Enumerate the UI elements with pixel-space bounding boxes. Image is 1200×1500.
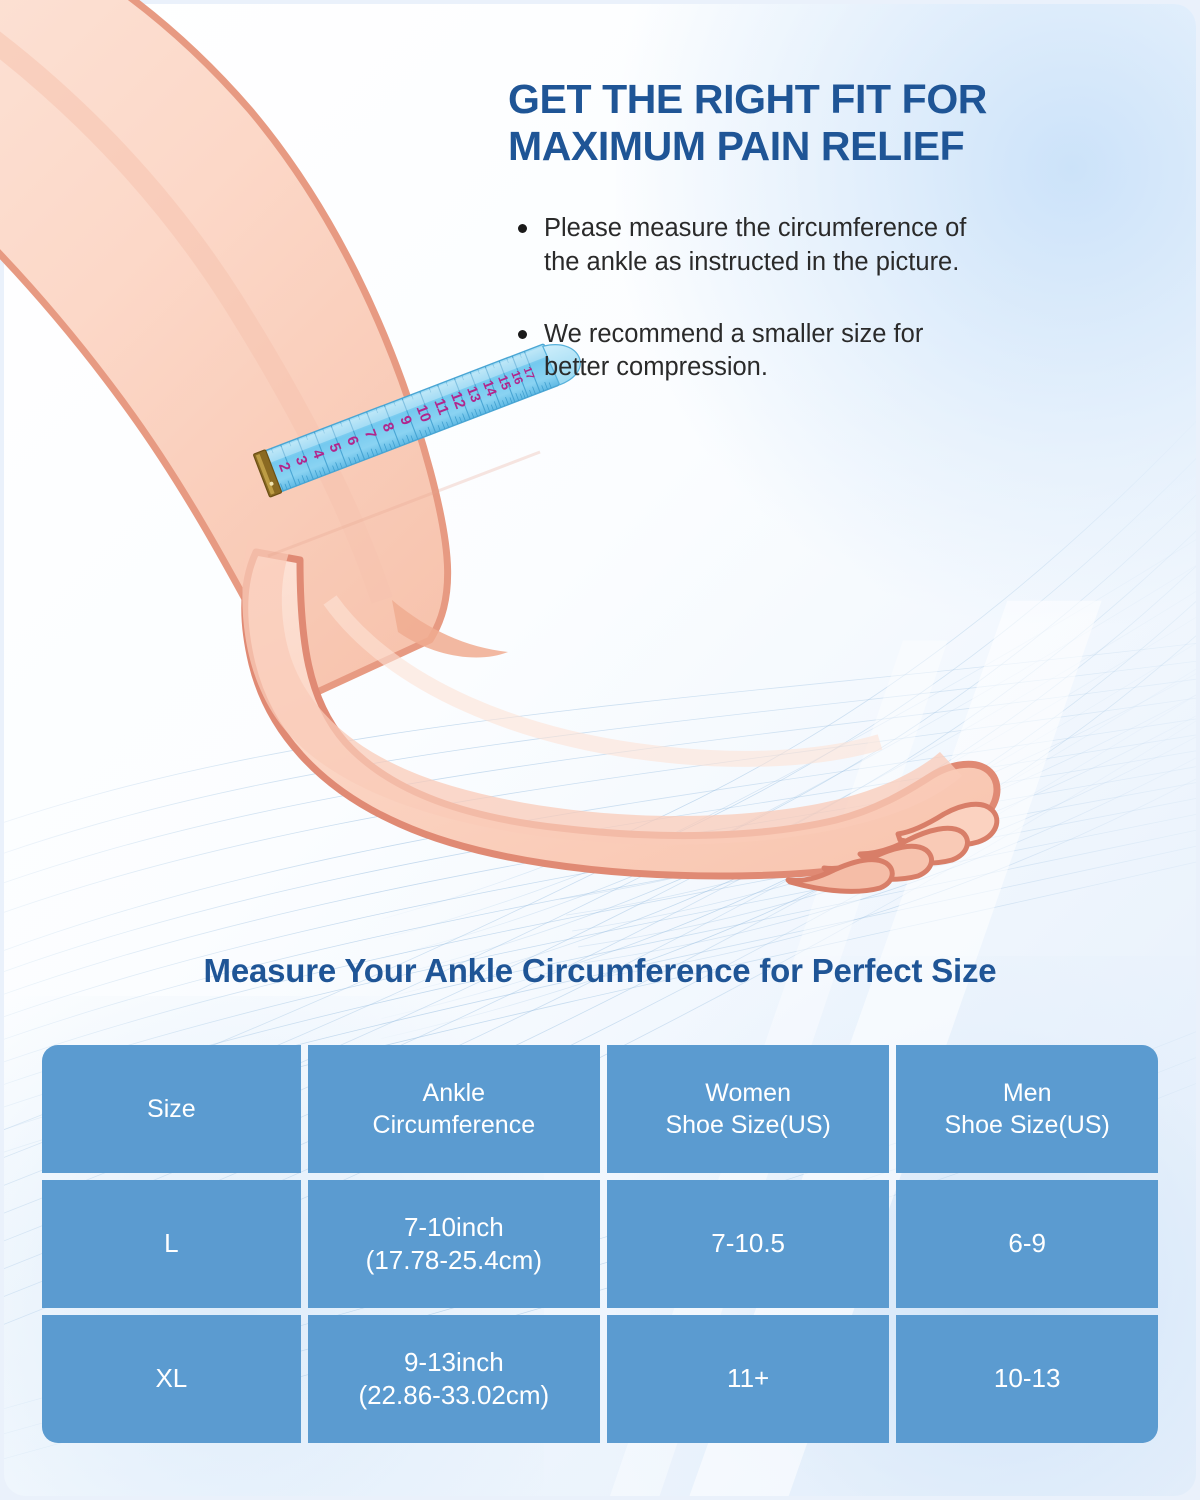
infographic-page: 2 3 4 5 6 7 8 9 10 11 12 13 14 15	[0, 0, 1200, 1500]
instruction-line-2: better compression.	[544, 351, 1156, 385]
table-cell-women: 11+	[607, 1315, 889, 1443]
bullet-dot-icon	[518, 330, 527, 339]
table-header-circumference-line-2: Circumference	[373, 1109, 536, 1141]
table-header-women-line-2: Shoe Size(US)	[665, 1109, 830, 1141]
headline-block: GET THE RIGHT FIT FOR MAXIMUM PAIN RELIE…	[508, 76, 1156, 385]
table-cell-men: 10-13	[896, 1315, 1158, 1443]
table-cell-men: 6-9	[896, 1180, 1158, 1308]
table-cell-circumference-cm: (17.78-25.4cm)	[366, 1244, 542, 1277]
table-cell-circumference: 9-13inch (22.86-33.02cm)	[308, 1315, 600, 1443]
table-row: L 7-10inch (17.78-25.4cm) 7-10.5 6-9	[42, 1180, 1158, 1308]
instruction-line-1: We recommend a smaller size for	[544, 320, 923, 348]
table-cell-circumference-inch: 9-13inch	[358, 1346, 549, 1379]
instruction-text: Please measure the circumference of the …	[544, 212, 1156, 279]
page-title-line-1: GET THE RIGHT FIT FOR	[508, 76, 1156, 123]
list-item: We recommend a smaller size for better c…	[514, 318, 1156, 385]
size-chart-heading: Measure Your Ankle Circumference for Per…	[0, 952, 1200, 990]
table-cell-women: 7-10.5	[607, 1180, 889, 1308]
table-header-men-label: Men Shoe Size(US)	[944, 1077, 1109, 1141]
table-header-size-label: Size	[147, 1093, 196, 1125]
instruction-list: Please measure the circumference of the …	[508, 212, 1156, 385]
bullet-dot-icon	[518, 224, 527, 233]
list-item: Please measure the circumference of the …	[514, 212, 1156, 279]
table-header-size: Size	[42, 1045, 301, 1173]
table-row: XL 9-13inch (22.86-33.02cm) 11+ 10-13	[42, 1315, 1158, 1443]
table-header-women-line-1: Women	[665, 1077, 830, 1109]
table-header-row: Size Ankle Circumference Women Shoe Size…	[42, 1045, 1158, 1173]
table-header-circumference: Ankle Circumference	[308, 1045, 600, 1173]
instruction-line-2: the ankle as instructed in the picture.	[544, 246, 1156, 280]
leg-shape	[0, 0, 448, 700]
table-cell-size: XL	[42, 1315, 301, 1443]
size-chart-table: Size Ankle Circumference Women Shoe Size…	[42, 1045, 1158, 1443]
table-cell-circumference-inch: 7-10inch	[366, 1211, 542, 1244]
table-cell-circumference-value: 9-13inch (22.86-33.02cm)	[358, 1346, 549, 1413]
table-header-men-line-2: Shoe Size(US)	[944, 1109, 1109, 1141]
table-cell-size: L	[42, 1180, 301, 1308]
instruction-line-1: Please measure the circumference of	[544, 214, 966, 242]
table-header-circumference-line-1: Ankle	[373, 1077, 536, 1109]
page-title-line-2: MAXIMUM PAIN RELIEF	[508, 123, 1156, 170]
table-cell-circumference-cm: (22.86-33.02cm)	[358, 1379, 549, 1412]
instruction-text: We recommend a smaller size for better c…	[544, 318, 1156, 385]
table-cell-circumference: 7-10inch (17.78-25.4cm)	[308, 1180, 600, 1308]
table-header-circumference-label: Ankle Circumference	[373, 1077, 536, 1141]
table-header-women: Women Shoe Size(US)	[607, 1045, 889, 1173]
page-title: GET THE RIGHT FIT FOR MAXIMUM PAIN RELIE…	[508, 76, 1156, 170]
table-header-women-label: Women Shoe Size(US)	[665, 1077, 830, 1141]
table-header-men-line-1: Men	[944, 1077, 1109, 1109]
table-cell-circumference-value: 7-10inch (17.78-25.4cm)	[366, 1211, 542, 1278]
table-header-men: Men Shoe Size(US)	[896, 1045, 1158, 1173]
